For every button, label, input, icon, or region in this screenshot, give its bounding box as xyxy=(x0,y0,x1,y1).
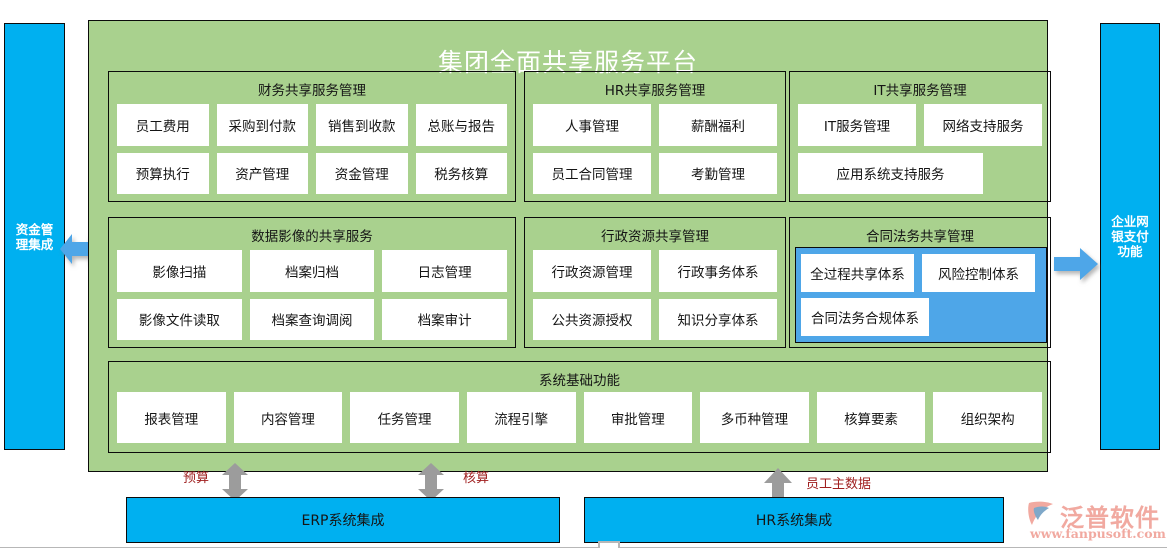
chip-item[interactable]: 档案审计 xyxy=(382,299,507,341)
bottom-notch xyxy=(598,541,620,548)
group-it: IT共享服务管理 IT服务管理 网络支持服务 应用系统支持服务 xyxy=(789,71,1051,202)
chip-item[interactable]: 薪酬福利 xyxy=(659,104,777,146)
flow-label-accounting: 核算 xyxy=(463,467,489,486)
chip-row: 全过程共享体系 风险控制体系 xyxy=(801,254,1041,292)
chip-item[interactable]: 内容管理 xyxy=(234,392,343,443)
chip-row: 人事管理 薪酬福利 xyxy=(533,104,777,146)
chip-item[interactable]: IT服务管理 xyxy=(798,104,916,146)
group-title-hr: HR共享服务管理 xyxy=(525,79,785,99)
double-vertical-arrow-icon xyxy=(418,463,444,501)
flow-label-budget: 预算 xyxy=(183,467,209,486)
chip-area-it: IT服务管理 网络支持服务 应用系统支持服务 xyxy=(798,104,1042,194)
chip-row: IT服务管理 网络支持服务 xyxy=(798,104,1042,146)
chip-row: 预算执行 资产管理 资金管理 税务核算 xyxy=(117,153,507,195)
chip-area-system-base: 报表管理 内容管理 任务管理 流程引擎 审批管理 多币种管理 核算要素 组织架构 xyxy=(117,392,1042,443)
chip-area-finance: 员工费用 采购到付款 销售到收款 总账与报告 预算执行 资产管理 资金管理 税务… xyxy=(117,104,507,194)
bottom-divider xyxy=(0,547,1167,548)
chip-area-data-imaging: 影像扫描 档案归档 日志管理 影像文件读取 档案查询调阅 档案审计 xyxy=(117,250,507,340)
chip-item[interactable]: 全过程共享体系 xyxy=(801,254,914,292)
chip-item[interactable]: 审批管理 xyxy=(584,392,693,443)
chip-row: 员工费用 采购到付款 销售到收款 总账与报告 xyxy=(117,104,507,146)
group-title-it: IT共享服务管理 xyxy=(790,79,1050,99)
chip-item[interactable]: 考勤管理 xyxy=(659,153,777,195)
chip-item[interactable]: 应用系统支持服务 xyxy=(798,153,983,195)
chip-row: 应用系统支持服务 xyxy=(798,153,1042,195)
chip-item[interactable]: 行政资源管理 xyxy=(533,250,651,292)
left-panel-label: 资金管理集成 xyxy=(15,222,55,252)
chip-item[interactable]: 核算要素 xyxy=(817,392,926,443)
chip-item[interactable]: 网络支持服务 xyxy=(924,104,1042,146)
flow-label-employee-master-data: 员工主数据 xyxy=(806,473,871,492)
chip-item[interactable]: 税务核算 xyxy=(416,153,508,195)
right-panel-label: 企业网银支付功能 xyxy=(1110,214,1150,259)
chip-item[interactable]: 预算执行 xyxy=(117,153,209,195)
group-title-system-base: 系统基础功能 xyxy=(109,369,1050,389)
chip-item[interactable]: 档案归档 xyxy=(250,250,375,292)
chip-row: 员工合同管理 考勤管理 xyxy=(533,153,777,195)
chip-item[interactable]: 员工费用 xyxy=(117,104,209,146)
integration-box-hr[interactable]: HR系统集成 xyxy=(584,497,1004,543)
group-system-base: 系统基础功能 报表管理 内容管理 任务管理 流程引擎 审批管理 多币种管理 核算… xyxy=(108,361,1051,453)
chip-item[interactable]: 行政事务体系 xyxy=(659,250,777,292)
chip-item[interactable]: 合同法务合规体系 xyxy=(801,298,929,336)
chip-item[interactable]: 采购到付款 xyxy=(217,104,309,146)
chip-row: 行政资源管理 行政事务体系 xyxy=(533,250,777,292)
diagram-canvas: 资金管理集成 企业网银支付功能 集团全面共享服务平台 财务共享服务管理 员工费用… xyxy=(0,0,1167,556)
integration-box-erp[interactable]: ERP系统集成 xyxy=(126,497,560,543)
group-contract-legal: 合同法务共享管理 全过程共享体系 风险控制体系 合同法务合规体系 xyxy=(789,217,1051,348)
chip-item[interactable]: 公共资源授权 xyxy=(533,299,651,341)
integration-label-hr: HR系统集成 xyxy=(756,510,832,530)
chip-item[interactable]: 流程引擎 xyxy=(467,392,576,443)
chip-item[interactable]: 人事管理 xyxy=(533,104,651,146)
chip-row: 合同法务合规体系 xyxy=(801,298,1041,336)
chip-item[interactable]: 组织架构 xyxy=(933,392,1042,443)
brand-logo: 泛普软件 www.fanpusoft.com xyxy=(1026,498,1164,548)
left-panel-funds-integration: 资金管理集成 xyxy=(4,23,65,450)
chip-item[interactable]: 销售到收款 xyxy=(316,104,408,146)
chip-item[interactable]: 任务管理 xyxy=(350,392,459,443)
group-title-data-imaging: 数据影像的共享服务 xyxy=(109,225,515,245)
double-vertical-arrow-icon xyxy=(222,463,248,501)
chip-item[interactable]: 知识分享体系 xyxy=(659,299,777,341)
integration-label-erp: ERP系统集成 xyxy=(301,510,384,530)
chip-area-admin-resources: 行政资源管理 行政事务体系 公共资源授权 知识分享体系 xyxy=(533,250,777,340)
group-admin-resources: 行政资源共享管理 行政资源管理 行政事务体系 公共资源授权 知识分享体系 xyxy=(524,217,786,348)
chip-area-hr: 人事管理 薪酬福利 员工合同管理 考勤管理 xyxy=(533,104,777,194)
right-arrow-icon xyxy=(1054,248,1098,280)
chip-item[interactable]: 影像扫描 xyxy=(117,250,242,292)
group-hr: HR共享服务管理 人事管理 薪酬福利 员工合同管理 考勤管理 xyxy=(524,71,786,202)
right-panel-ebank-payment: 企业网银支付功能 xyxy=(1100,23,1160,450)
logo-url: www.fanpusoft.com xyxy=(1030,526,1166,541)
chip-item[interactable]: 档案查询调阅 xyxy=(250,299,375,341)
chip-item[interactable]: 员工合同管理 xyxy=(533,153,651,195)
fanpu-logo-icon xyxy=(1026,500,1056,526)
group-data-imaging: 数据影像的共享服务 影像扫描 档案归档 日志管理 影像文件读取 档案查询调阅 档… xyxy=(108,217,516,348)
contract-legal-blue-pane: 全过程共享体系 风险控制体系 合同法务合规体系 xyxy=(795,247,1047,343)
chip-item[interactable]: 资产管理 xyxy=(217,153,309,195)
group-title-contract-legal: 合同法务共享管理 xyxy=(790,225,1050,245)
chip-item[interactable]: 总账与报告 xyxy=(416,104,508,146)
chip-row: 影像扫描 档案归档 日志管理 xyxy=(117,250,507,292)
shared-service-platform: 集团全面共享服务平台 财务共享服务管理 员工费用 采购到付款 销售到收款 总账与… xyxy=(88,20,1048,472)
chip-item[interactable]: 多币种管理 xyxy=(700,392,809,443)
chip-row: 影像文件读取 档案查询调阅 档案审计 xyxy=(117,299,507,341)
chip-item[interactable]: 资金管理 xyxy=(316,153,408,195)
chip-item[interactable]: 风险控制体系 xyxy=(922,254,1035,292)
chip-row: 报表管理 内容管理 任务管理 流程引擎 审批管理 多币种管理 核算要素 组织架构 xyxy=(117,392,1042,443)
chip-item[interactable]: 报表管理 xyxy=(117,392,226,443)
group-title-admin-resources: 行政资源共享管理 xyxy=(525,225,785,245)
chip-item[interactable]: 日志管理 xyxy=(382,250,507,292)
chip-area-contract-legal: 全过程共享体系 风险控制体系 合同法务合规体系 xyxy=(801,254,1041,336)
chip-item[interactable]: 影像文件读取 xyxy=(117,299,242,341)
chip-row: 公共资源授权 知识分享体系 xyxy=(533,299,777,341)
group-finance: 财务共享服务管理 员工费用 采购到付款 销售到收款 总账与报告 预算执行 资产管… xyxy=(108,71,516,202)
group-title-finance: 财务共享服务管理 xyxy=(109,79,515,99)
